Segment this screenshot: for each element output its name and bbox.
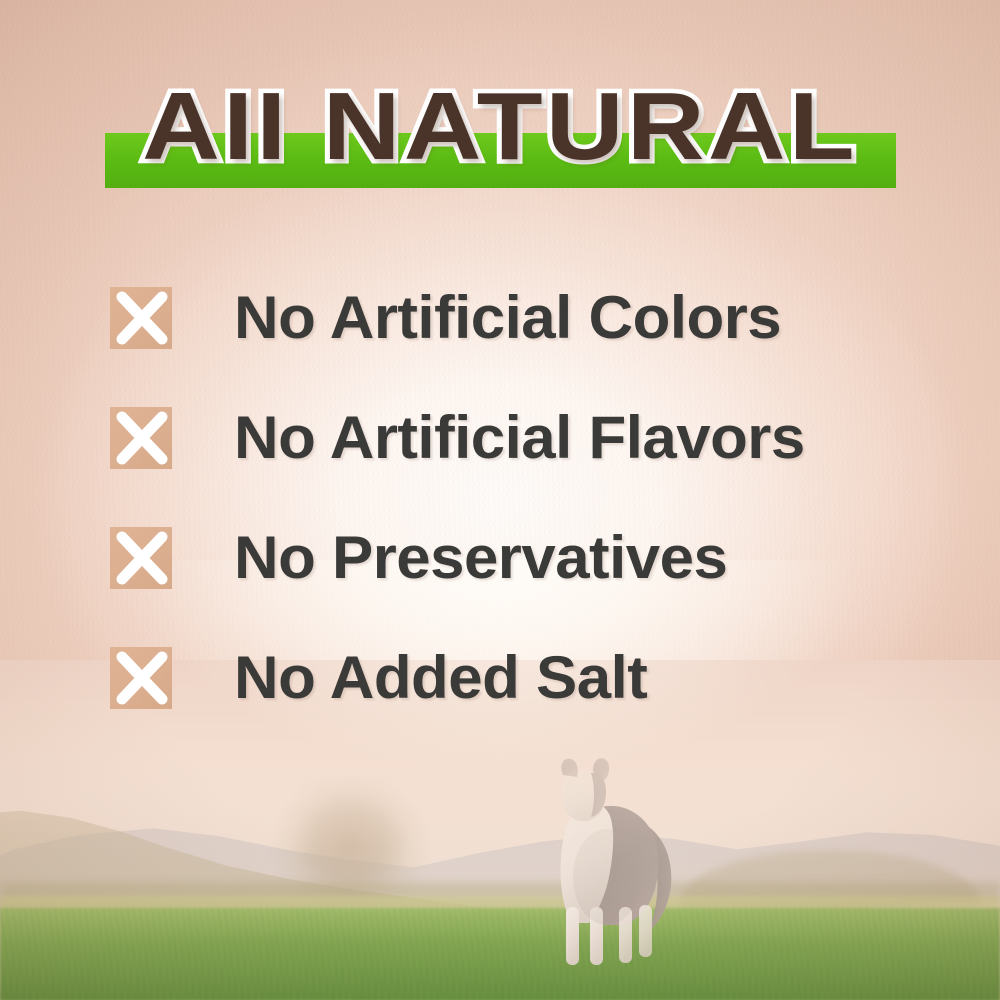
benefit-label: No Artificial Colors (234, 287, 930, 349)
benefit-label: No Added Salt (234, 647, 930, 709)
product-feature-poster: AII NATURAL No Artificial Colors No Arti… (0, 0, 1000, 1000)
benefit-label: No Artificial Flavors (234, 407, 930, 469)
list-item: No Artificial Colors (110, 258, 910, 378)
x-mark-icon (110, 287, 172, 349)
x-mark-icon (110, 647, 172, 709)
headline-banner: AII NATURAL (0, 72, 1000, 202)
list-item: No Added Salt (110, 618, 910, 738)
x-mark-icon (110, 407, 172, 469)
benefits-list: No Artificial Colors No Artificial Flavo… (110, 258, 910, 738)
benefit-label: No Preservatives (234, 527, 930, 589)
page-title: AII NATURAL (0, 72, 1000, 182)
list-item: No Artificial Flavors (110, 378, 910, 498)
list-item: No Preservatives (110, 498, 910, 618)
x-mark-icon (110, 527, 172, 589)
